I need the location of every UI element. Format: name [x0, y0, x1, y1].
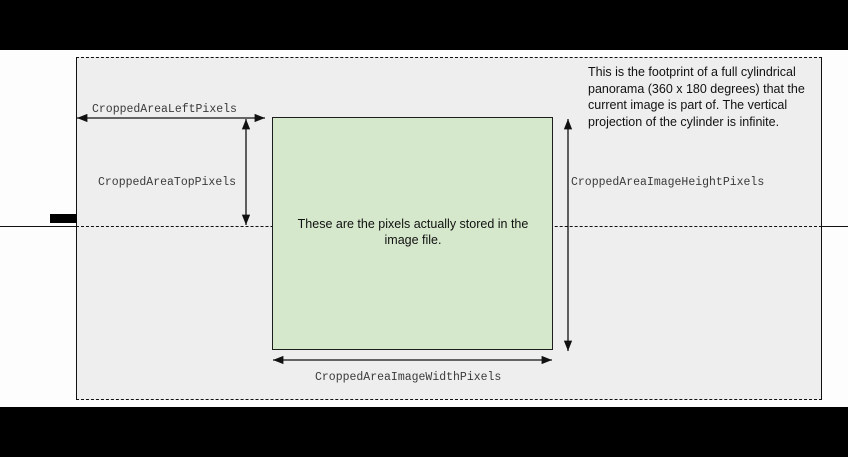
panorama-note: This is the footprint of a full cylindri… [588, 64, 834, 130]
horizon-line-left [0, 226, 77, 227]
panorama-bottom-edge [76, 399, 822, 400]
diagram-canvas: These are the pixels actually stored in … [0, 0, 848, 457]
cropped-area-caption: These are the pixels actually stored in … [282, 216, 544, 248]
panorama-top-edge [76, 57, 822, 58]
label-cropped-area-left-pixels: CroppedAreaLeftPixels [92, 103, 237, 116]
label-cropped-area-top-pixels: CroppedAreaTopPixels [98, 176, 236, 189]
horizon-marker [50, 214, 77, 223]
horizon-line-right [821, 226, 848, 227]
label-cropped-area-image-height-pixels: CroppedAreaImageHeightPixels [571, 176, 764, 189]
label-cropped-area-image-width-pixels: CroppedAreaImageWidthPixels [315, 371, 501, 384]
panorama-left-edge [76, 57, 77, 400]
